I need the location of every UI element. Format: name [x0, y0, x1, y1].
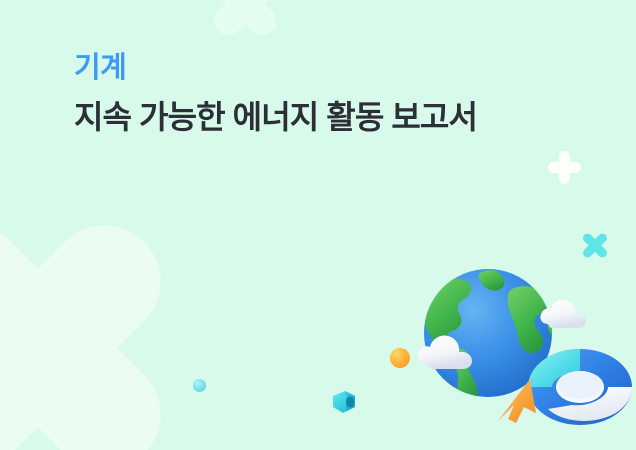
cube-cyan-icon [330, 389, 358, 415]
globe-energy-illustration [400, 255, 636, 450]
page-title: 지속 가능한 에너지 활동 보고서 [74, 97, 504, 138]
text-block: 기계 지속 가능한 에너지 활동 보고서 [74, 52, 514, 138]
x-shape-small-icon [207, 0, 283, 42]
plus-shape-icon [548, 151, 581, 184]
torus-ring [528, 349, 632, 425]
slide-canvas: 기계 지속 가능한 에너지 활동 보고서 [0, 0, 636, 450]
eyebrow-label: 기계 [74, 52, 514, 85]
dot-cyan-icon [193, 379, 206, 392]
x-shape-large-icon [0, 198, 188, 450]
cloud-right [540, 299, 586, 328]
